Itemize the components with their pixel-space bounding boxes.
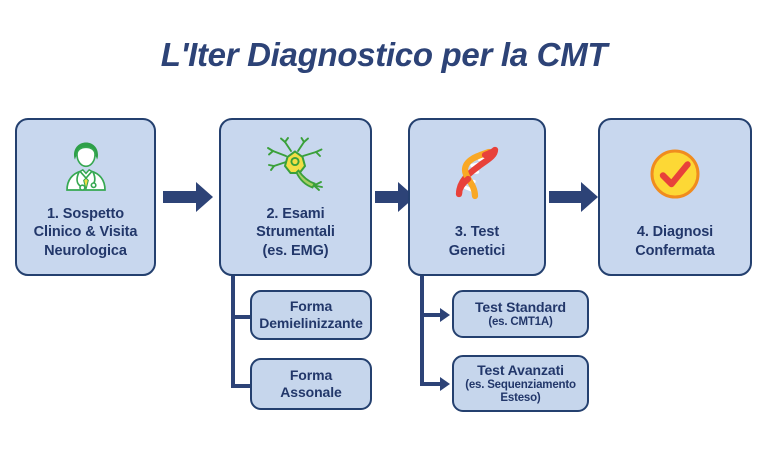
neuron-icon <box>221 120 370 205</box>
branch-trunk-step2 <box>231 276 235 388</box>
subnode-label: Test Avanzati <box>473 362 568 379</box>
subnode-sublabel: (es. CMT1A) <box>488 316 552 329</box>
dna-icon <box>410 120 544 223</box>
step-box-4[interactable]: 4. Diagnosi Confermata <box>598 118 752 276</box>
subnode-label: Forma Assonale <box>276 367 345 401</box>
subnode-forma-demielinizzante[interactable]: Forma Demielinizzante <box>250 290 372 340</box>
flow-arrow-3-4 <box>549 182 599 212</box>
doctor-icon <box>17 120 154 205</box>
branch-arrowhead-step3-1 <box>440 308 450 322</box>
branch-trunk-step3 <box>420 276 424 386</box>
branch-stub-step3-1 <box>420 313 442 317</box>
subnode-label: Test Standard <box>471 299 570 316</box>
step-label-1: 1. Sospetto Clinico & Visita Neurologica <box>30 205 142 260</box>
flow-arrow-2-3 <box>375 182 411 212</box>
subnode-test-avanzati[interactable]: Test Avanzati (es. Sequenziamento Esteso… <box>452 355 589 412</box>
step-box-2[interactable]: 2. Esami Strumentali (es. EMG) <box>219 118 372 276</box>
subnode-label: Forma Demielinizzante <box>255 298 367 332</box>
diagram-canvas: L'Iter Diagnostico per la CMT <box>0 0 768 450</box>
page-title: L'Iter Diagnostico per la CMT <box>0 36 768 74</box>
check-circle-icon <box>600 120 750 223</box>
step-box-3[interactable]: 3. Test Genetici <box>408 118 546 276</box>
step-box-1[interactable]: 1. Sospetto Clinico & Visita Neurologica <box>15 118 156 276</box>
subnode-sublabel: (es. Sequenziamento Esteso) <box>465 379 576 405</box>
subnode-test-standard[interactable]: Test Standard (es. CMT1A) <box>452 290 589 338</box>
step-label-3: 3. Test Genetici <box>445 223 509 260</box>
branch-arrowhead-step3-2 <box>440 377 450 391</box>
step-label-2: 2. Esami Strumentali (es. EMG) <box>252 205 339 260</box>
flow-arrow-1-2 <box>163 182 213 212</box>
subnode-forma-assonale[interactable]: Forma Assonale <box>250 358 372 410</box>
step-label-4: 4. Diagnosi Confermata <box>631 223 719 260</box>
branch-stub-step3-2 <box>420 382 442 386</box>
